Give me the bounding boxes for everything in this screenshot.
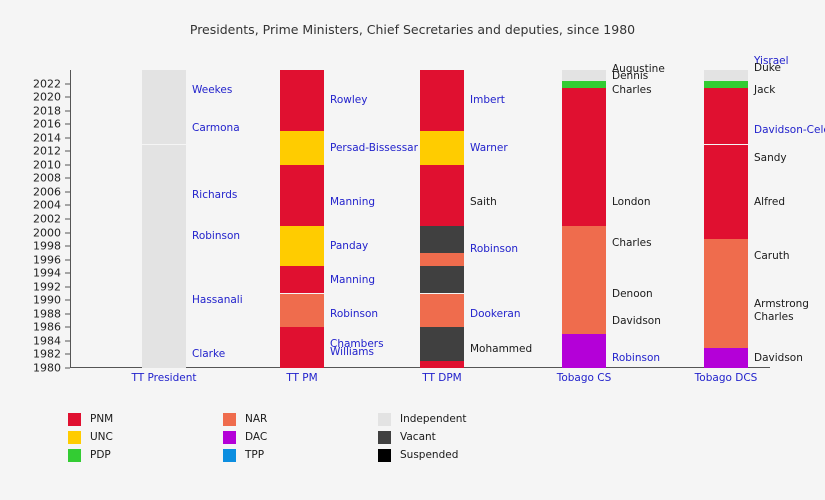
- legend-item-tpp[interactable]: TPP: [223, 449, 378, 462]
- legend-label: NAR: [245, 413, 267, 425]
- timeline-segment[interactable]: [420, 294, 464, 328]
- legend-item-suspended[interactable]: Suspended: [378, 449, 533, 462]
- y-tick-mark: [65, 354, 70, 355]
- segment-label: Persad-Bissessar: [330, 142, 418, 154]
- y-tick-mark: [65, 313, 70, 314]
- timeline-segment[interactable]: [420, 253, 464, 267]
- timeline-segment[interactable]: [420, 70, 464, 131]
- segment-label: Charles: [612, 84, 652, 96]
- y-tick-mark: [65, 259, 70, 260]
- y-tick-mark: [65, 205, 70, 206]
- y-tick-mark: [65, 124, 70, 125]
- segment-label: Robinson: [470, 243, 518, 255]
- y-tick-mark: [65, 178, 70, 179]
- legend-item-vacant[interactable]: Vacant: [378, 431, 533, 444]
- page-title: Presidents, Prime Ministers, Chief Secre…: [0, 22, 825, 37]
- timeline-segment[interactable]: [280, 361, 324, 368]
- legend-swatch-icon: [223, 449, 236, 462]
- timeline-segment[interactable]: [704, 327, 748, 347]
- legend-label: TPP: [245, 449, 264, 461]
- timeline-segment[interactable]: [142, 145, 186, 213]
- timeline-segment[interactable]: [420, 266, 464, 293]
- segment-label: Davidson: [612, 315, 661, 327]
- segment-label: Manning: [330, 196, 375, 208]
- segment-label: Denoon: [612, 288, 653, 300]
- segment-label: Rowley: [330, 94, 367, 106]
- legend-label: PDP: [90, 449, 111, 461]
- chart-legend: PNMUNCPDPNARDACTPPIndependentVacantSuspe…: [68, 410, 528, 464]
- timeline-segment[interactable]: [562, 90, 606, 117]
- segment-label: London: [612, 196, 651, 208]
- timeline-segment[interactable]: [420, 327, 464, 361]
- segment-label: Robinson: [192, 230, 240, 242]
- timeline-segment[interactable]: [420, 165, 464, 226]
- legend-swatch-icon: [378, 449, 391, 462]
- x-axis-label-tt-pm[interactable]: TT PM: [286, 372, 317, 384]
- timeline-segment[interactable]: [142, 70, 186, 111]
- segment-label: Duke: [754, 62, 781, 74]
- segment-label: Charles: [612, 237, 652, 249]
- segment-label: Alfred: [754, 196, 785, 208]
- timeline-segment[interactable]: [142, 253, 186, 321]
- segment-label: Manning: [330, 274, 375, 286]
- timeline-segment[interactable]: [562, 314, 606, 334]
- timeline-segment[interactable]: [280, 165, 324, 226]
- timeline-segment[interactable]: [280, 266, 324, 293]
- timeline-segment[interactable]: [704, 70, 748, 81]
- legend-item-dac[interactable]: DAC: [223, 431, 378, 444]
- legend-item-pnm[interactable]: PNM: [68, 413, 223, 426]
- legend-label: Suspended: [400, 449, 458, 461]
- timeline-segment[interactable]: [704, 81, 748, 88]
- segment-label: Caruth: [754, 250, 790, 262]
- timeline-segment[interactable]: [280, 131, 324, 165]
- segment-label: Charles: [754, 311, 794, 323]
- segment-label: Dennis: [612, 70, 648, 82]
- segment-label: Warner: [470, 142, 508, 154]
- y-tick-mark: [65, 83, 70, 84]
- timeline-segment[interactable]: [142, 321, 186, 368]
- legend-item-nar[interactable]: NAR: [223, 413, 378, 426]
- segment-label: Mohammed: [470, 343, 532, 355]
- timeline-segment[interactable]: [704, 172, 748, 240]
- timeline-segment[interactable]: [704, 273, 748, 327]
- timeline-column-tt-pm: RowleyPersad-BissessarManningPandayManni…: [280, 70, 324, 368]
- legend-swatch-icon: [68, 413, 81, 426]
- segment-label: Clarke: [192, 348, 225, 360]
- timeline-segment[interactable]: [704, 117, 748, 144]
- y-tick-mark: [65, 137, 70, 138]
- y-tick-mark: [65, 164, 70, 165]
- y-tick-mark: [65, 273, 70, 274]
- segment-label: Robinson: [330, 308, 378, 320]
- x-axis-label-tt-dpm[interactable]: TT DPM: [422, 372, 461, 384]
- timeline-segment[interactable]: [704, 348, 748, 368]
- segment-label: Sandy: [754, 152, 787, 164]
- segment-label: Carmona: [192, 122, 240, 134]
- y-tick-mark: [65, 368, 70, 369]
- x-axis-label-tobago-dcs[interactable]: Tobago DCS: [695, 372, 758, 384]
- timeline-segment[interactable]: [562, 226, 606, 260]
- y-tick-mark: [65, 286, 70, 287]
- legend-label: DAC: [245, 431, 267, 443]
- y-tick-mark: [65, 327, 70, 328]
- segment-label: Weekes: [192, 84, 232, 96]
- timeline-segment[interactable]: [280, 327, 324, 361]
- legend-label: Independent: [400, 413, 467, 425]
- timeline-segment[interactable]: [280, 70, 324, 131]
- y-tick-mark: [65, 110, 70, 111]
- legend-swatch-icon: [223, 431, 236, 444]
- timeline-segment[interactable]: [280, 226, 324, 267]
- timeline-column-tt-dpm: ImbertWarnerSaithRobinsonDookeranMohamme…: [420, 70, 464, 368]
- timeline-plot-area: 2022202020182016201420122010200820062004…: [70, 70, 770, 368]
- timeline-segment[interactable]: [704, 239, 748, 273]
- legend-swatch-icon: [68, 431, 81, 444]
- y-tick-mark: [65, 246, 70, 247]
- y-tick-mark: [65, 97, 70, 98]
- timeline-segment[interactable]: [420, 361, 464, 368]
- legend-label: PNM: [90, 413, 113, 425]
- timeline-column-tobago-cs: AugustineDennisCharlesLondonCharlesDenoo…: [562, 70, 606, 368]
- y-tick-mark: [65, 232, 70, 233]
- legend-item-unc[interactable]: UNC: [68, 431, 223, 444]
- legend-swatch-icon: [223, 413, 236, 426]
- y-tick-mark: [65, 300, 70, 301]
- segment-label: Dookeran: [470, 308, 521, 320]
- segment-label: Armstrong: [754, 298, 809, 310]
- segment-label: Richards: [192, 189, 237, 201]
- segment-label: Jack: [754, 84, 775, 96]
- segment-label: Williams: [330, 346, 374, 358]
- x-axis-label-tt-president[interactable]: TT President: [132, 372, 197, 384]
- timeline-segment[interactable]: [562, 117, 606, 225]
- segment-label: Saith: [470, 196, 497, 208]
- timeline-segment[interactable]: [704, 145, 748, 172]
- legend-label: Vacant: [400, 431, 436, 443]
- legend-swatch-icon: [378, 431, 391, 444]
- timeline-segment[interactable]: [704, 88, 748, 118]
- timeline-segment[interactable]: [280, 294, 324, 328]
- x-axis-label-tobago-cs[interactable]: Tobago CS: [557, 372, 612, 384]
- timeline-column-tobago-dcs: YisraelDukeJackDavidson-CelestineSandyAl…: [704, 70, 748, 368]
- y-tick-mark: [65, 340, 70, 341]
- y-tick-mark: [65, 151, 70, 152]
- timeline-segment[interactable]: [420, 131, 464, 165]
- segment-label: Hassanali: [192, 294, 243, 306]
- segment-label: Davidson-Celestine: [754, 124, 825, 136]
- timeline-segment[interactable]: [420, 226, 464, 253]
- legend-item-independent[interactable]: Independent: [378, 413, 533, 426]
- segment-label: Imbert: [470, 94, 505, 106]
- timeline-segment[interactable]: [142, 212, 186, 253]
- y-tick-mark: [65, 191, 70, 192]
- timeline-column-tt-president: WeekesCarmonaRichardsRobinsonHassanaliCl…: [142, 70, 186, 368]
- segment-label: Panday: [330, 240, 368, 252]
- legend-label: UNC: [90, 431, 113, 443]
- legend-swatch-icon: [68, 449, 81, 462]
- legend-item-pdp[interactable]: PDP: [68, 449, 223, 462]
- segment-label: Robinson: [612, 352, 660, 364]
- timeline-segment[interactable]: [562, 70, 606, 81]
- segment-label: Davidson: [754, 352, 803, 364]
- timeline-segment[interactable]: [562, 81, 606, 88]
- timeline-segment[interactable]: [562, 334, 606, 368]
- timeline-segment[interactable]: [562, 260, 606, 314]
- timeline-segment[interactable]: [142, 111, 186, 145]
- y-tick-mark: [65, 219, 70, 220]
- legend-swatch-icon: [378, 413, 391, 426]
